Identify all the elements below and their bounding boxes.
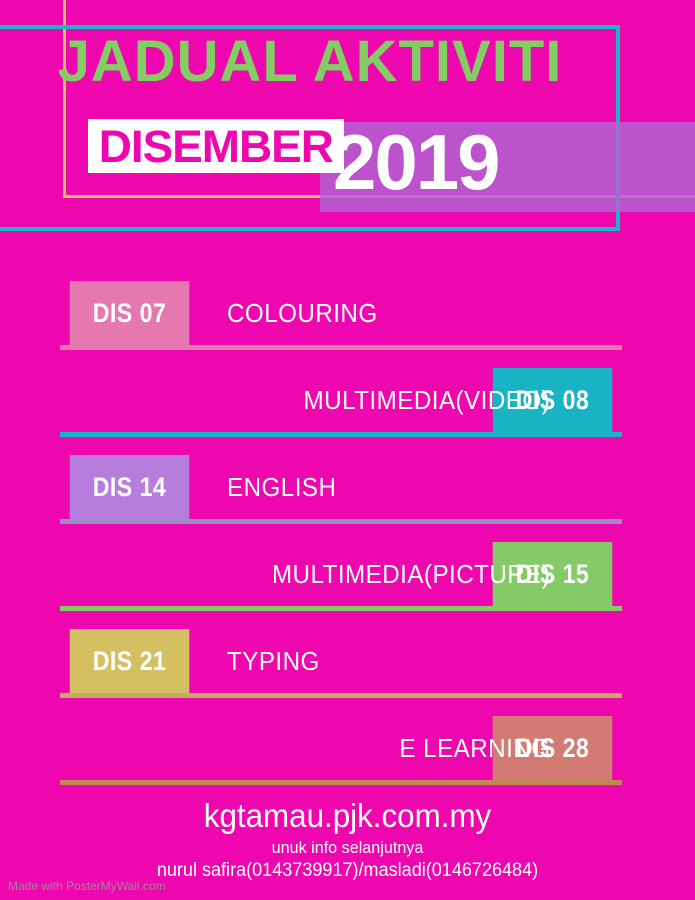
table-row[interactable]: DIS 07COLOURING bbox=[0, 281, 695, 368]
row-underline bbox=[60, 519, 622, 524]
table-row[interactable]: DIS 08MULTIMEDIA(VIDEO) bbox=[0, 368, 695, 455]
month-label: DISEMBER bbox=[99, 124, 333, 169]
activity-label: MULTIMEDIA(VIDEO) bbox=[303, 368, 550, 432]
page-title: JADUAL AKTIVITI bbox=[0, 33, 620, 91]
date-badge: DIS 21 bbox=[70, 629, 190, 693]
activity-label: COLOURING bbox=[227, 281, 378, 345]
activity-label: E LEARNING bbox=[399, 716, 550, 780]
table-row[interactable]: DIS 14ENGLISH bbox=[0, 455, 695, 542]
schedule-list: DIS 07COLOURINGDIS 08MULTIMEDIA(VIDEO)DI… bbox=[0, 281, 695, 803]
website-link[interactable]: kgtamau.pjk.com.my bbox=[17, 798, 677, 835]
postermywall-watermark: Made with PosterMyWall.com bbox=[8, 879, 166, 893]
row-underline bbox=[60, 606, 622, 611]
footer-subtitle: unuk info selanjutnya bbox=[17, 838, 677, 858]
row-underline bbox=[60, 693, 622, 698]
activity-label: TYPING bbox=[227, 629, 320, 693]
activity-label: MULTIMEDIA(PICTURE) bbox=[272, 542, 550, 606]
date-badge: DIS 14 bbox=[70, 455, 190, 519]
poster-canvas: JADUAL AKTIVITI DISEMBER 2019 DIS 07COLO… bbox=[0, 0, 695, 900]
month-badge: DISEMBER bbox=[88, 119, 344, 173]
row-underline bbox=[60, 345, 622, 350]
activity-label: ENGLISH bbox=[227, 455, 336, 519]
footer: kgtamau.pjk.com.my unuk info selanjutnya… bbox=[0, 798, 695, 882]
table-row[interactable]: DIS 28E LEARNING bbox=[0, 716, 695, 803]
table-row[interactable]: DIS 21TYPING bbox=[0, 629, 695, 716]
row-underline bbox=[60, 432, 622, 437]
date-badge: DIS 07 bbox=[70, 281, 190, 345]
year-label: 2019 bbox=[333, 123, 499, 201]
row-underline bbox=[60, 780, 622, 785]
table-row[interactable]: DIS 15MULTIMEDIA(PICTURE) bbox=[0, 542, 695, 629]
